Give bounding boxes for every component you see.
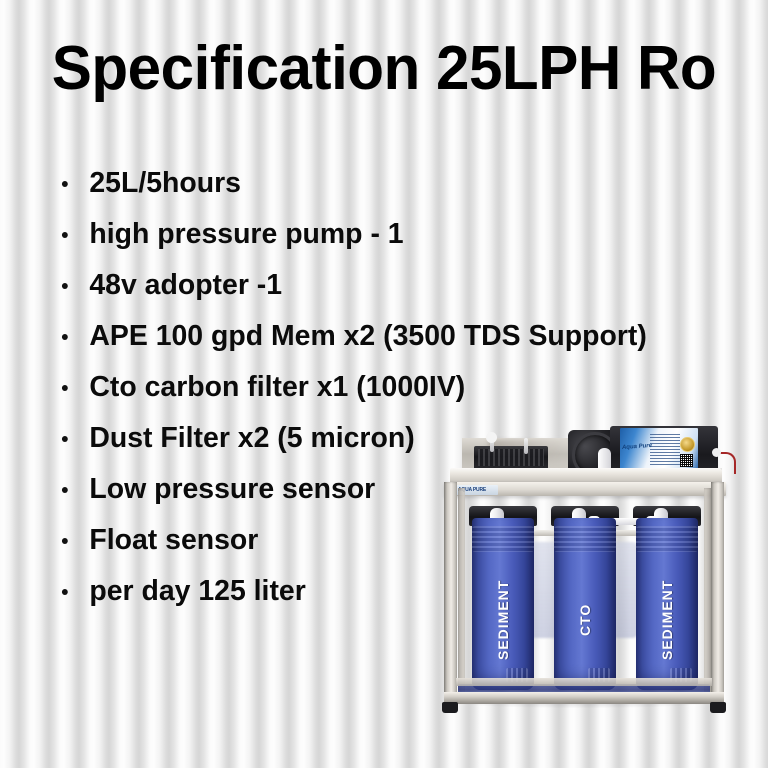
bullet-dot-icon bbox=[62, 589, 68, 595]
frame-rail-rear-bottom bbox=[456, 678, 712, 686]
list-item-label: Cto carbon filter x1 (1000IV) bbox=[89, 371, 465, 403]
bullet-dot-icon bbox=[62, 487, 68, 493]
frame-foot-right bbox=[710, 702, 726, 713]
list-item-label: Dust Filter x2 (5 micron) bbox=[89, 422, 414, 454]
tube-post bbox=[524, 438, 528, 454]
bullet-dot-icon bbox=[62, 436, 68, 442]
list-item-label: per day 125 liter bbox=[89, 575, 305, 607]
list-item-label: Float sensor bbox=[89, 524, 258, 556]
tube-post-cap bbox=[486, 432, 497, 443]
pump-pressure-switch bbox=[712, 448, 721, 457]
bullet-dot-icon bbox=[62, 232, 68, 238]
list-item-label: 25L/5hours bbox=[89, 167, 241, 199]
list-item: Cto carbon filter x1 (1000IV) bbox=[58, 362, 705, 413]
pump-label-sticker: Aqua Pure bbox=[620, 428, 698, 472]
housing-label: SEDIMENT bbox=[636, 570, 698, 670]
pump-label-brand: Aqua Pure bbox=[622, 443, 652, 451]
housing-label: SEDIMENT bbox=[472, 570, 534, 670]
bullet-dot-icon bbox=[62, 538, 68, 544]
frame-post-right bbox=[711, 482, 724, 707]
list-item-label: Low pressure sensor bbox=[89, 473, 375, 505]
frame-foot-left bbox=[442, 702, 458, 713]
housing-label: CTO bbox=[554, 570, 616, 670]
filter-housing-sediment-right: SEDIMENT bbox=[636, 518, 698, 690]
filter-housing-sediment-left: SEDIMENT bbox=[472, 518, 534, 690]
housing-ribs bbox=[472, 526, 534, 552]
filter-housing-cto: CTO bbox=[554, 518, 616, 690]
frame-post-rear-right bbox=[704, 488, 711, 696]
adapter-fins bbox=[478, 449, 544, 466]
specification-poster: Specification 25LPH Ro 25L/5hours high p… bbox=[0, 0, 768, 768]
list-item: APE 100 gpd Mem x2 (3500 TDS Support) bbox=[58, 311, 705, 362]
list-item: 25L/5hours bbox=[58, 158, 705, 209]
qr-code-icon bbox=[680, 454, 693, 467]
pump-label-text-lines bbox=[650, 434, 680, 466]
frame-post-left bbox=[444, 482, 457, 707]
bullet-dot-icon bbox=[62, 334, 68, 340]
list-item-label: APE 100 gpd Mem x2 (3500 TDS Support) bbox=[89, 320, 646, 352]
product-photo-ro-system: Aqua Pure AQUA PURE bbox=[428, 422, 740, 714]
list-item-label: high pressure pump - 1 bbox=[89, 218, 403, 250]
page-title: Specification 25LPH Ro bbox=[12, 34, 757, 104]
frame-post-rear-left bbox=[458, 488, 465, 696]
list-item: 48v adopter -1 bbox=[58, 260, 705, 311]
housing-ribs bbox=[636, 526, 698, 552]
bullet-dot-icon bbox=[62, 385, 68, 391]
housing-ribs bbox=[554, 526, 616, 552]
certification-seal-icon bbox=[680, 437, 695, 452]
bullet-dot-icon bbox=[62, 181, 68, 187]
list-item: high pressure pump - 1 bbox=[58, 209, 705, 260]
list-item-label: 48v adopter -1 bbox=[89, 269, 282, 301]
frame-rail-front-bottom bbox=[444, 692, 724, 704]
bullet-dot-icon bbox=[62, 283, 68, 289]
